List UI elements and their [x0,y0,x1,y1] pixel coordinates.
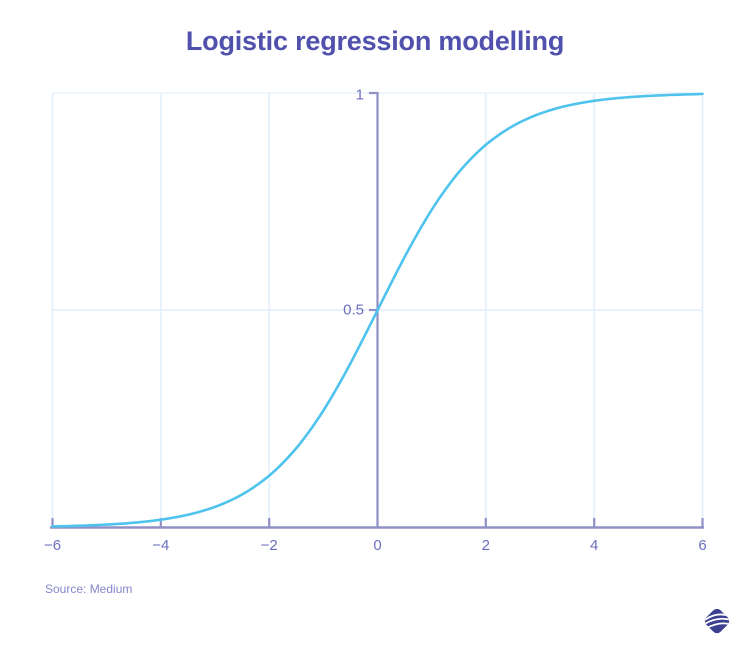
x-tick-label-minus2: −2 [261,537,278,554]
brand-logo-icon [699,603,735,639]
plot-area: −6 −4 −2 0 2 4 6 0.5 1 [0,0,750,650]
x-tick-label-minus4: −4 [152,537,169,554]
chart-card: Logistic regression modelling [0,0,750,650]
y-tick-label-one: 1 [356,87,364,104]
x-tick-label-minus6: −6 [44,537,61,554]
source-note: Source: Medium [45,582,132,596]
y-tick-label-half: 0.5 [343,302,364,319]
x-tick-label-4: 4 [590,537,598,554]
x-tick-label-2: 2 [482,537,490,554]
x-tick-label-0: 0 [373,537,381,554]
x-tick-label-6: 6 [698,537,706,554]
